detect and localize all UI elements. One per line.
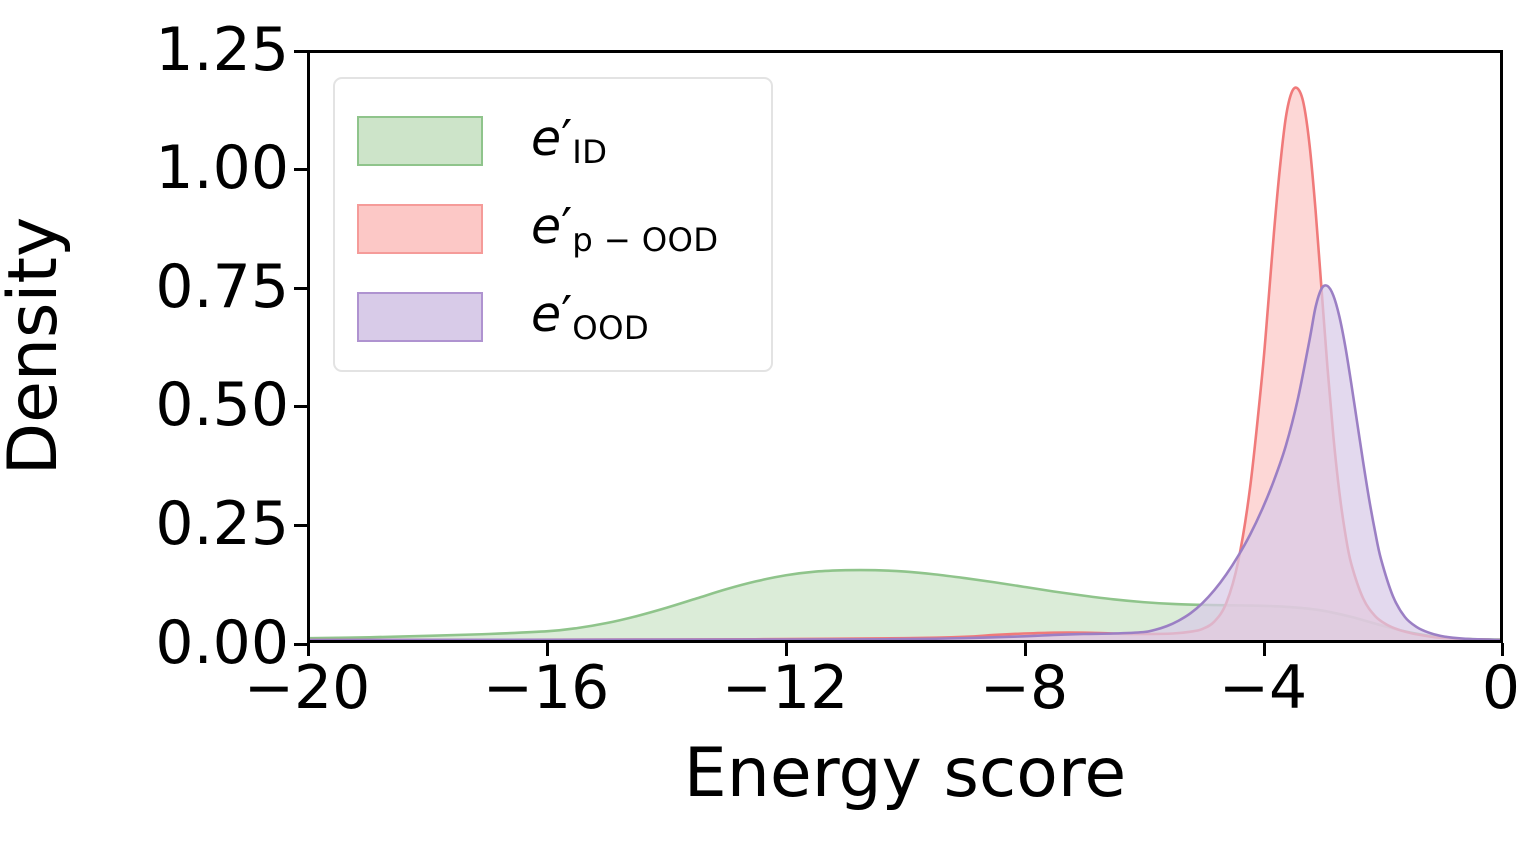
x-tick-label: −12 bbox=[722, 658, 849, 718]
x-tick-label: −16 bbox=[483, 658, 610, 718]
legend-label-ood: e′OOD bbox=[531, 290, 649, 344]
legend-swatch-ood bbox=[357, 292, 483, 342]
x-tick-label: −4 bbox=[1219, 658, 1307, 718]
y-tick-mark bbox=[294, 643, 307, 646]
legend-item-id: e′ID bbox=[335, 97, 771, 185]
legend-swatch-id bbox=[357, 116, 483, 166]
y-tick-label: 0.00 bbox=[155, 613, 289, 673]
y-axis-title: Density bbox=[0, 217, 68, 476]
y-tick-mark bbox=[294, 287, 307, 290]
y-tick-label: 0.75 bbox=[155, 257, 289, 317]
legend-label-p-ood: e′p − OOD bbox=[531, 202, 719, 256]
x-tick-label: 0 bbox=[1482, 658, 1520, 718]
y-tick-label: 1.25 bbox=[155, 20, 289, 80]
legend: e′ID e′p − OOD e′OOD bbox=[333, 77, 773, 372]
y-tick-mark bbox=[294, 50, 307, 53]
legend-swatch-p-ood bbox=[357, 204, 483, 254]
x-tick-label: −8 bbox=[980, 658, 1068, 718]
x-axis-title: Energy score bbox=[684, 740, 1126, 808]
density-plot-figure: −20 −16 −12 −8 −4 0 0.00 0.25 0.50 0.75 … bbox=[0, 0, 1521, 849]
legend-label-id: e′ID bbox=[531, 114, 607, 168]
legend-item-ood: e′OOD bbox=[335, 273, 771, 361]
y-tick-mark bbox=[294, 524, 307, 527]
y-tick-mark bbox=[294, 168, 307, 171]
y-tick-label: 0.50 bbox=[155, 375, 289, 435]
y-tick-label: 1.00 bbox=[155, 138, 289, 198]
y-tick-label: 0.25 bbox=[155, 494, 289, 554]
y-tick-mark bbox=[294, 405, 307, 408]
legend-item-p-ood: e′p − OOD bbox=[335, 185, 771, 273]
